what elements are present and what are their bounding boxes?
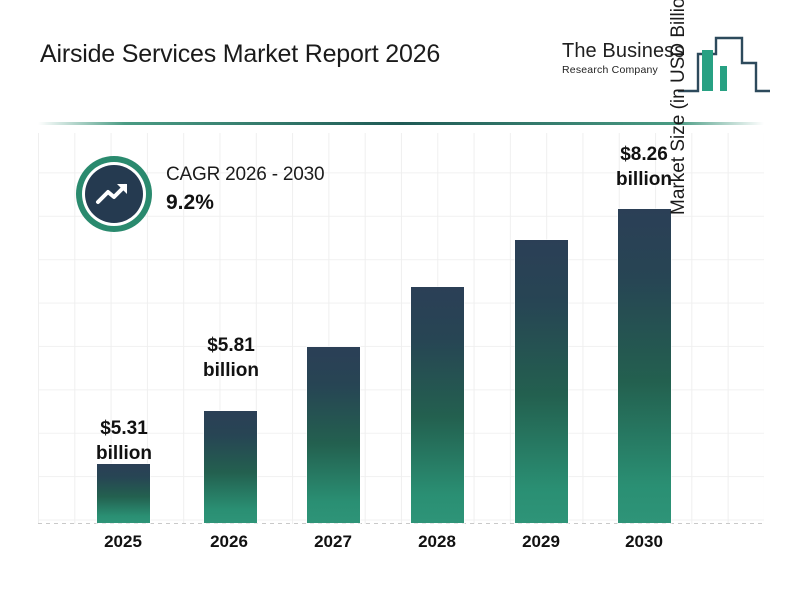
bar-2030[interactable] xyxy=(618,209,671,523)
trending-up-arrow-icon xyxy=(76,156,152,232)
y-axis-title: Market Size (in USD Billion) xyxy=(668,0,690,215)
bar-2029[interactable] xyxy=(515,240,568,523)
bar-value-unit-2026: billion xyxy=(171,358,291,383)
trend-arrow-glyph xyxy=(94,179,134,209)
cagr-icon-gap xyxy=(82,162,146,226)
cagr-badge: CAGR 2026 - 2030 9.2% xyxy=(76,156,376,234)
bar-2025[interactable] xyxy=(97,464,150,523)
x-axis-tick-2030: 2030 xyxy=(589,532,699,552)
x-axis-tick-2026: 2026 xyxy=(174,532,284,552)
x-axis-tick-2027: 2027 xyxy=(278,532,388,552)
cagr-text-block: CAGR 2026 - 2030 9.2% xyxy=(166,164,324,215)
x-axis-tick-2025: 2025 xyxy=(68,532,178,552)
brand-logo-bars-icon xyxy=(558,28,770,100)
x-axis-tick-2028: 2028 xyxy=(382,532,492,552)
bar-2027[interactable] xyxy=(307,347,360,523)
bar-value-amount-2025: $5.31 xyxy=(64,416,184,441)
bar-value-label-2025: $5.31 billion xyxy=(64,416,184,467)
bar-2028[interactable] xyxy=(411,287,464,523)
cagr-icon-disc xyxy=(85,165,143,223)
bar-2026[interactable] xyxy=(204,411,257,523)
cagr-label: CAGR 2026 - 2030 xyxy=(166,164,324,186)
bar-value-amount-2026: $5.81 xyxy=(171,333,291,358)
bar-value-unit-2025: billion xyxy=(64,441,184,466)
cagr-value: 9.2% xyxy=(166,191,324,215)
brand-logo: The Business Research Company xyxy=(558,28,770,100)
page-title: Airside Services Market Report 2026 xyxy=(40,40,440,69)
header-divider xyxy=(38,122,764,125)
x-axis-baseline xyxy=(38,523,764,524)
chart-page: Airside Services Market Report 2026 The … xyxy=(0,0,800,600)
bar-value-label-2026: $5.81 billion xyxy=(171,333,291,384)
x-axis-tick-2029: 2029 xyxy=(486,532,596,552)
